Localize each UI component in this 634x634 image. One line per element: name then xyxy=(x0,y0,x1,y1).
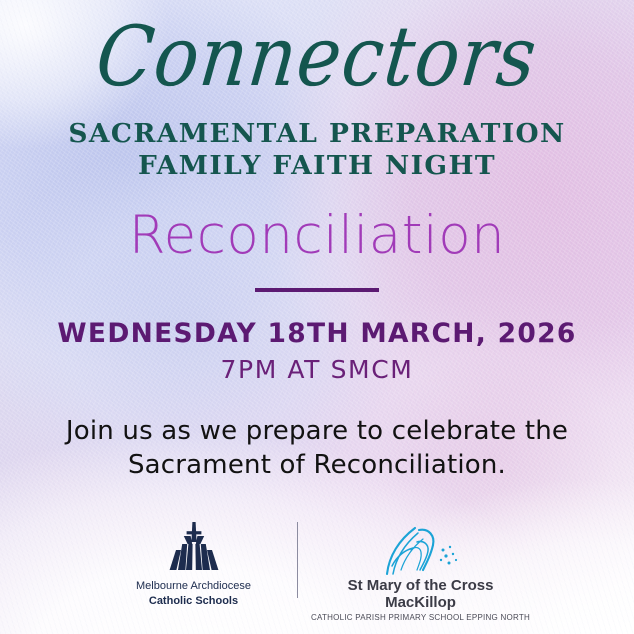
event-time-location: 7PM AT SMCM xyxy=(221,355,414,384)
divider-rule xyxy=(255,288,379,292)
event-flyer: Connectors SACRAMENTAL PREPARATION FAMIL… xyxy=(0,0,634,634)
sacrament-heading: Reconciliation xyxy=(129,209,506,262)
event-description: Join us as we prepare to celebrate the S… xyxy=(66,414,568,484)
event-subtitle: SACRAMENTAL PREPARATION FAMILY FAITH NIG… xyxy=(68,118,565,183)
page-title: Connectors xyxy=(93,16,541,99)
event-description-line-1: Join us as we prepare to celebrate the xyxy=(66,414,568,449)
event-description-line-2: Sacrament of Reconciliation. xyxy=(66,448,568,483)
event-date: WEDNESDAY 18TH MARCH, 2026 xyxy=(57,318,576,349)
event-subtitle-line-1: SACRAMENTAL PREPARATION xyxy=(68,118,565,150)
event-subtitle-line-2: FAMILY FAITH NIGHT xyxy=(68,150,565,182)
flyer-content: Connectors SACRAMENTAL PREPARATION FAMIL… xyxy=(0,0,634,634)
